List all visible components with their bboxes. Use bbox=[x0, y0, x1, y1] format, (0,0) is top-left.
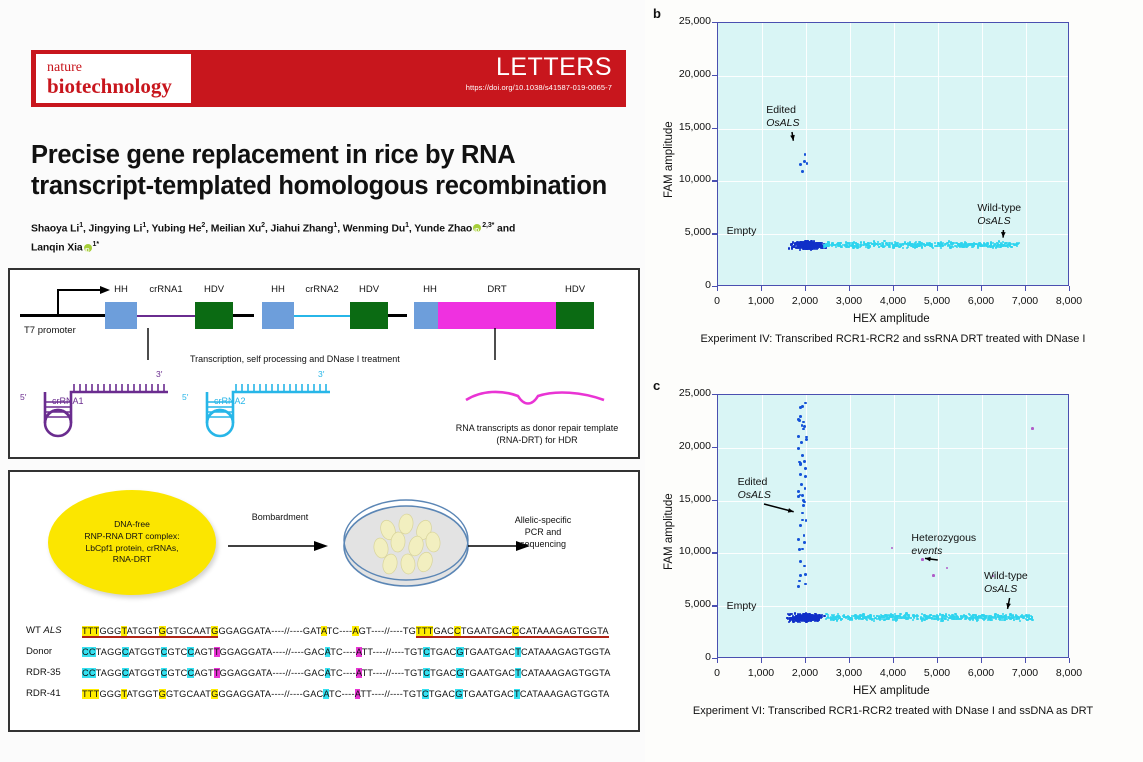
y-axis-tick-mark bbox=[712, 128, 717, 129]
complex-line-2: RNP-RNA DRT complex: bbox=[84, 531, 179, 543]
orcid-icon[interactable] bbox=[473, 224, 481, 232]
y-axis-tick-mark bbox=[712, 394, 717, 395]
y-axis-tick-label: 5,000 bbox=[659, 598, 711, 610]
data-point bbox=[934, 242, 936, 244]
data-point bbox=[968, 617, 970, 619]
data-point bbox=[826, 617, 828, 619]
data-point bbox=[838, 616, 840, 618]
annotation-arrow-icon bbox=[782, 122, 804, 154]
data-point bbox=[840, 618, 842, 620]
x-axis-title: HEX amplitude bbox=[853, 685, 930, 697]
data-point bbox=[802, 421, 805, 424]
transcription-note: Transcription, self processing and DNase… bbox=[190, 354, 400, 364]
author-3: , Yubing He bbox=[146, 223, 201, 234]
data-point bbox=[798, 419, 801, 422]
y-axis-title: FAM amplitude bbox=[663, 493, 675, 570]
journal-logo: nature biotechnology bbox=[36, 54, 191, 103]
gridline-vertical bbox=[762, 395, 763, 657]
chart-caption: Experiment IV: Transcribed RCR1-RCR2 and… bbox=[667, 332, 1119, 347]
data-point bbox=[904, 241, 906, 243]
crrna2-segment bbox=[294, 315, 350, 317]
data-point bbox=[902, 247, 904, 249]
crrna1-hairpin-label: crRNA1 bbox=[52, 396, 84, 406]
x-axis-tick-label: 8,000 bbox=[1046, 295, 1092, 307]
orcid-icon[interactable] bbox=[84, 244, 92, 252]
gridline-horizontal bbox=[718, 181, 1068, 182]
alignment-sequence: CCTAGGCATGGTCGTCCAGTTGGAGGATA----//----G… bbox=[82, 647, 611, 657]
gridline-horizontal bbox=[718, 553, 1068, 554]
petri-dish-icon bbox=[340, 490, 472, 598]
data-point bbox=[799, 524, 802, 527]
data-point bbox=[818, 619, 820, 621]
data-point bbox=[803, 613, 805, 615]
alignment-sequence: CCTAGGCATGGTCGTCCAGTTGGAGGATA----//----G… bbox=[82, 668, 611, 678]
y-axis-title: FAM amplitude bbox=[663, 121, 675, 198]
section-label: LETTERS bbox=[496, 53, 612, 82]
x-axis-tick-mark bbox=[805, 658, 806, 663]
chart-caption: Experiment VI: Transcribed RCR1-RCR2 tre… bbox=[667, 704, 1119, 719]
data-point bbox=[921, 245, 923, 247]
crrna1-hairpin-icon bbox=[28, 370, 188, 448]
y-axis-tick-mark bbox=[712, 500, 717, 501]
x-axis-tick-label: 6,000 bbox=[958, 667, 1004, 679]
article-column: nature biotechnology LETTERS https://doi… bbox=[0, 0, 645, 762]
label-hh-3: HH bbox=[410, 284, 450, 295]
data-point bbox=[840, 246, 842, 248]
data-point bbox=[914, 615, 916, 617]
annotation-line-1: Empty bbox=[727, 600, 757, 613]
block-hh-2 bbox=[262, 302, 294, 329]
data-point bbox=[882, 242, 884, 244]
gridline-vertical bbox=[762, 23, 763, 285]
data-point bbox=[790, 244, 792, 246]
data-point bbox=[881, 618, 883, 620]
author-4: , Meilian Xu bbox=[205, 223, 261, 234]
y-axis-tick-mark bbox=[712, 75, 717, 76]
x-axis-tick-label: 5,000 bbox=[914, 667, 960, 679]
data-point bbox=[917, 243, 919, 245]
y-axis-tick-label: 0 bbox=[659, 651, 711, 663]
y-axis-tick-mark bbox=[712, 605, 717, 606]
data-point bbox=[986, 244, 988, 246]
data-point bbox=[959, 618, 961, 620]
data-point bbox=[980, 244, 982, 246]
data-point bbox=[799, 574, 802, 577]
data-point bbox=[805, 436, 808, 439]
x-axis-tick-label: 0 bbox=[694, 667, 740, 679]
data-point bbox=[1023, 616, 1025, 618]
x-axis-tick-label: 0 bbox=[694, 295, 740, 307]
data-point bbox=[820, 247, 822, 249]
crrna2-5prime-label: 5′ bbox=[182, 392, 188, 402]
data-point bbox=[812, 616, 814, 618]
y-axis-tick-label: 0 bbox=[659, 279, 711, 291]
block-drt bbox=[438, 302, 556, 329]
x-axis-tick-mark bbox=[981, 286, 982, 291]
label-hdv-3: HDV bbox=[555, 284, 595, 295]
data-point bbox=[983, 614, 985, 616]
rnp-complex-text: DNA-free RNP-RNA DRT complex: LbCpf1 pro… bbox=[84, 519, 179, 565]
block-hdv-3 bbox=[556, 302, 594, 329]
x-axis-tick-mark bbox=[937, 658, 938, 663]
data-point bbox=[831, 244, 833, 246]
x-axis-tick-mark bbox=[849, 658, 850, 663]
data-point bbox=[981, 617, 983, 619]
data-point bbox=[810, 248, 812, 250]
data-point bbox=[839, 244, 841, 246]
annotation-arrow-icon bbox=[993, 220, 1013, 251]
data-point bbox=[1031, 617, 1033, 619]
annotation-arrow-icon bbox=[912, 548, 948, 570]
data-point bbox=[1031, 619, 1033, 621]
y-axis-tick-label: 20,000 bbox=[659, 68, 711, 80]
annotation-line-1: Edited bbox=[738, 476, 771, 489]
x-axis-tick-mark bbox=[893, 658, 894, 663]
x-axis-tick-label: 4,000 bbox=[870, 295, 916, 307]
crrna1-5prime-label: 5′ bbox=[20, 392, 26, 402]
alignment-row: WT ALSTTTGGGTATGGTGGTGCAATGGGAGGATA----/… bbox=[26, 620, 636, 641]
data-point bbox=[799, 406, 802, 409]
annotation-arrow-icon bbox=[754, 494, 807, 523]
data-point bbox=[836, 620, 838, 622]
data-point bbox=[806, 248, 808, 250]
data-point bbox=[923, 619, 925, 621]
x-axis-tick-label: 5,000 bbox=[914, 295, 960, 307]
x-axis-tick-mark bbox=[761, 658, 762, 663]
data-point bbox=[955, 618, 957, 620]
data-point bbox=[817, 244, 819, 246]
data-point bbox=[944, 243, 946, 245]
data-point bbox=[871, 243, 873, 245]
crrna2-3prime-label: 3′ bbox=[318, 369, 324, 379]
label-crrna1: crRNA1 bbox=[140, 284, 192, 295]
label-drt: DRT bbox=[477, 284, 517, 295]
data-point bbox=[932, 574, 935, 577]
data-point bbox=[900, 245, 902, 247]
data-point bbox=[797, 490, 800, 493]
data-point bbox=[885, 618, 887, 620]
x-axis-tick-label: 4,000 bbox=[870, 667, 916, 679]
rna-transcript-squiggle-icon bbox=[462, 382, 612, 416]
panel-b-box: DNA-free RNP-RNA DRT complex: LbCpf1 pro… bbox=[8, 470, 640, 732]
data-point bbox=[867, 246, 869, 248]
alignment-row-label: RDR-41 bbox=[26, 688, 82, 699]
page-title: Precise gene replacement in rice by RNA … bbox=[31, 140, 631, 202]
data-point bbox=[802, 428, 805, 431]
data-point bbox=[916, 618, 918, 620]
data-point bbox=[799, 473, 802, 476]
label-crrna2: crRNA2 bbox=[296, 284, 348, 295]
block-hh-1 bbox=[105, 302, 137, 329]
data-point bbox=[830, 618, 832, 620]
data-point bbox=[805, 438, 808, 441]
x-axis-tick-label: 1,000 bbox=[738, 295, 784, 307]
x-axis-title: HEX amplitude bbox=[853, 313, 930, 325]
x-axis-tick-mark bbox=[981, 658, 982, 663]
data-point bbox=[983, 243, 985, 245]
drt-drop-line-icon bbox=[490, 328, 510, 362]
y-axis-tick-mark bbox=[712, 447, 717, 448]
x-axis-tick-mark bbox=[1025, 658, 1026, 663]
data-point bbox=[940, 620, 942, 622]
block-hdv-1 bbox=[195, 302, 233, 329]
data-point bbox=[804, 475, 807, 478]
alignment-sequence: TTTGGGTATGGTGGTGCAATGGGAGGATA----//----G… bbox=[82, 626, 609, 636]
x-axis-tick-mark bbox=[1069, 286, 1070, 291]
data-point bbox=[883, 615, 885, 617]
chart-annotation: Empty bbox=[727, 225, 757, 238]
x-axis-tick-mark bbox=[1069, 658, 1070, 663]
label-hdv-1: HDV bbox=[194, 284, 234, 295]
data-point bbox=[801, 548, 804, 551]
data-point bbox=[804, 487, 807, 490]
data-point bbox=[786, 617, 788, 619]
crrna2-hairpin-label: crRNA2 bbox=[214, 396, 246, 406]
data-point bbox=[799, 560, 802, 563]
alignment-row: RDR-35CCTAGGCATGGTCGTCCAGTTGGAGGATA----/… bbox=[26, 662, 636, 683]
data-point bbox=[848, 617, 850, 619]
data-point bbox=[977, 247, 979, 249]
data-point bbox=[803, 534, 806, 537]
x-axis-tick-mark bbox=[761, 286, 762, 291]
data-point bbox=[799, 249, 801, 251]
author-6: , Wenming Du bbox=[337, 223, 405, 234]
x-axis-tick-mark bbox=[937, 286, 938, 291]
data-point bbox=[990, 241, 992, 243]
data-point bbox=[904, 614, 906, 616]
data-point bbox=[949, 246, 951, 248]
x-axis-tick-label: 8,000 bbox=[1046, 667, 1092, 679]
data-point bbox=[1015, 243, 1017, 245]
crrna1-3prime-label: 3′ bbox=[156, 369, 162, 379]
author-7: , Yunde Zhao bbox=[409, 223, 472, 234]
data-point bbox=[856, 246, 858, 248]
charts-column: b05,00010,00015,00020,00025,00001,0002,0… bbox=[645, 0, 1143, 762]
data-point bbox=[977, 244, 979, 246]
complex-line-1: DNA-free bbox=[84, 519, 179, 531]
doi-link[interactable]: https://doi.org/10.1038/s41587-019-0065-… bbox=[466, 83, 612, 92]
pcr-line-2: PCR and bbox=[478, 526, 608, 538]
complex-line-3: LbCpf1 protein, crRNAs, bbox=[84, 543, 179, 555]
data-point bbox=[804, 573, 807, 576]
data-point bbox=[801, 454, 804, 457]
data-point bbox=[948, 617, 950, 619]
pcr-line-3: sequencing bbox=[478, 538, 608, 550]
data-point bbox=[815, 618, 817, 620]
data-point bbox=[906, 247, 908, 249]
data-point bbox=[797, 447, 800, 450]
construct-map: T7 promoter HH crRNA1 HDV HH crRNA2 HDV … bbox=[10, 270, 638, 360]
journal-logo-line1: nature bbox=[47, 61, 191, 75]
x-axis-tick-mark bbox=[717, 658, 718, 663]
data-point bbox=[806, 162, 809, 165]
data-point bbox=[798, 620, 800, 622]
x-axis-tick-mark bbox=[717, 286, 718, 291]
pcr-sequencing-label: Allelic-specific PCR and sequencing bbox=[478, 514, 608, 550]
data-point bbox=[977, 619, 979, 621]
data-point bbox=[788, 247, 790, 249]
pcr-line-1: Allelic-specific bbox=[478, 514, 608, 526]
data-point bbox=[972, 246, 974, 248]
x-axis-tick-label: 1,000 bbox=[738, 667, 784, 679]
data-point bbox=[813, 244, 815, 246]
y-axis-tick-mark bbox=[712, 552, 717, 553]
crrna1-segment bbox=[137, 315, 195, 317]
data-point bbox=[929, 617, 931, 619]
data-point bbox=[803, 160, 806, 163]
data-point bbox=[924, 245, 926, 247]
x-axis-tick-label: 7,000 bbox=[1002, 667, 1048, 679]
data-point bbox=[984, 616, 986, 618]
author-1: Shaoya Li bbox=[31, 223, 79, 234]
data-point bbox=[800, 483, 803, 486]
data-point bbox=[826, 244, 828, 246]
rna-drt-note: RNA transcripts as donor repair template… bbox=[442, 422, 632, 446]
data-point bbox=[973, 616, 975, 618]
label-hh-1: HH bbox=[101, 284, 141, 295]
y-axis-tick-label: 25,000 bbox=[659, 15, 711, 27]
data-point bbox=[950, 242, 952, 244]
x-axis-tick-mark bbox=[893, 286, 894, 291]
chart-annotation: Empty bbox=[727, 600, 757, 613]
label-hdv-2: HDV bbox=[349, 284, 389, 295]
x-axis-tick-label: 2,000 bbox=[782, 295, 828, 307]
data-point bbox=[798, 548, 801, 551]
data-point bbox=[803, 460, 806, 463]
gridline-horizontal bbox=[718, 234, 1068, 235]
annotation-line-1: Empty bbox=[727, 225, 757, 238]
data-point bbox=[801, 170, 804, 173]
data-point bbox=[800, 441, 803, 444]
annotation-arrow-icon bbox=[997, 588, 1020, 622]
author-8: Lanqin Xia bbox=[31, 243, 83, 254]
annotation-line-1: Wild-type bbox=[984, 570, 1028, 583]
figure-page: nature biotechnology LETTERS https://doi… bbox=[0, 0, 1143, 762]
alignment-sequence: TTTGGGTATGGTGGTGCAATGGGAGGATA----//----G… bbox=[82, 689, 609, 699]
data-point bbox=[1031, 427, 1034, 430]
data-point bbox=[794, 242, 796, 244]
data-point bbox=[800, 246, 802, 248]
bombardment-label: Bombardment bbox=[220, 512, 340, 522]
x-axis-tick-label: 2,000 bbox=[782, 667, 828, 679]
x-axis-tick-mark bbox=[849, 286, 850, 291]
annotation-line-1: Edited bbox=[766, 104, 799, 117]
data-point bbox=[860, 241, 862, 243]
x-axis-tick-label: 3,000 bbox=[826, 295, 872, 307]
x-axis-tick-label: 7,000 bbox=[1002, 295, 1048, 307]
block-hdv-2 bbox=[350, 302, 388, 329]
data-point bbox=[797, 585, 800, 588]
data-point bbox=[878, 246, 880, 248]
author-list: Shaoya Li1, Jingying Li1, Yubing He2, Me… bbox=[31, 218, 623, 257]
data-point bbox=[803, 425, 806, 428]
x-axis-tick-label: 6,000 bbox=[958, 295, 1004, 307]
data-point bbox=[913, 617, 915, 619]
alignment-row: RDR-41TTTGGGTATGGTGGTGCAATGGGAGGATA----/… bbox=[26, 683, 636, 704]
data-point bbox=[1016, 245, 1018, 247]
alignment-row: DonorCCTAGGCATGGTCGTCCAGTTGGAGGATA----//… bbox=[26, 641, 636, 662]
rnp-complex-ellipse: DNA-free RNP-RNA DRT complex: LbCpf1 pro… bbox=[48, 490, 216, 595]
journal-header-bar: nature biotechnology LETTERS https://doi… bbox=[31, 50, 626, 107]
data-point bbox=[863, 615, 865, 617]
data-point bbox=[804, 583, 807, 586]
plot-area bbox=[717, 22, 1069, 286]
data-point bbox=[799, 463, 802, 466]
y-axis-tick-label: 25,000 bbox=[659, 387, 711, 399]
y-axis-tick-mark bbox=[712, 180, 717, 181]
annotation-line-1: Heterozygous bbox=[911, 532, 976, 545]
sequence-alignment: WT ALSTTTGGGTATGGTGGTGCAATGGGAGGATA----/… bbox=[26, 620, 636, 704]
journal-logo-line2: biotechnology bbox=[47, 75, 191, 97]
alignment-row-label: WT ALS bbox=[26, 625, 82, 636]
data-point bbox=[878, 616, 880, 618]
data-point bbox=[889, 242, 891, 244]
x-axis-tick-mark bbox=[805, 286, 806, 291]
data-point bbox=[806, 244, 808, 246]
data-point bbox=[875, 243, 877, 245]
data-point bbox=[804, 467, 807, 470]
data-point bbox=[797, 435, 800, 438]
gridline-horizontal bbox=[718, 76, 1068, 77]
panel-b-scatter: b05,00010,00015,00020,00025,00001,0002,0… bbox=[645, 0, 1143, 390]
author-5: , Jiahui Zhang bbox=[265, 223, 333, 234]
data-point bbox=[972, 619, 974, 621]
data-point bbox=[940, 247, 942, 249]
arrow-right-icon bbox=[228, 538, 332, 554]
gridline-vertical bbox=[1026, 23, 1027, 285]
data-point bbox=[798, 580, 801, 583]
data-point bbox=[797, 538, 800, 541]
y-axis-tick-label: 20,000 bbox=[659, 440, 711, 452]
data-point bbox=[859, 617, 861, 619]
panel-a-box: T7 promoter HH crRNA1 HDV HH crRNA2 HDV … bbox=[8, 268, 640, 459]
alignment-row-label: RDR-35 bbox=[26, 667, 82, 678]
data-point bbox=[1026, 615, 1028, 617]
y-axis-tick-label: 5,000 bbox=[659, 226, 711, 238]
annotation-line-1: Wild-type bbox=[977, 202, 1021, 215]
data-point bbox=[851, 618, 853, 620]
data-point bbox=[891, 547, 894, 550]
author-2: , Jingying Li bbox=[83, 223, 142, 234]
data-point bbox=[916, 246, 918, 248]
data-point bbox=[937, 615, 939, 617]
y-axis-tick-mark bbox=[712, 22, 717, 23]
panel-c-scatter: c05,00010,00015,00020,00025,00001,0002,0… bbox=[645, 372, 1143, 762]
t7-promoter-label: T7 promoter bbox=[24, 325, 76, 336]
label-hh-2: HH bbox=[258, 284, 298, 295]
complex-line-4: RNA-DRT bbox=[84, 554, 179, 566]
data-point bbox=[895, 620, 897, 622]
alignment-row-label: Donor bbox=[26, 646, 82, 657]
gridline-horizontal bbox=[718, 448, 1068, 449]
data-point bbox=[986, 242, 988, 244]
x-axis-tick-label: 3,000 bbox=[826, 667, 872, 679]
data-point bbox=[969, 243, 971, 245]
x-axis-tick-mark bbox=[1025, 286, 1026, 291]
data-point bbox=[799, 415, 802, 418]
y-axis-tick-mark bbox=[712, 233, 717, 234]
crrna2-hairpin-icon bbox=[190, 370, 350, 448]
data-point bbox=[799, 163, 802, 166]
